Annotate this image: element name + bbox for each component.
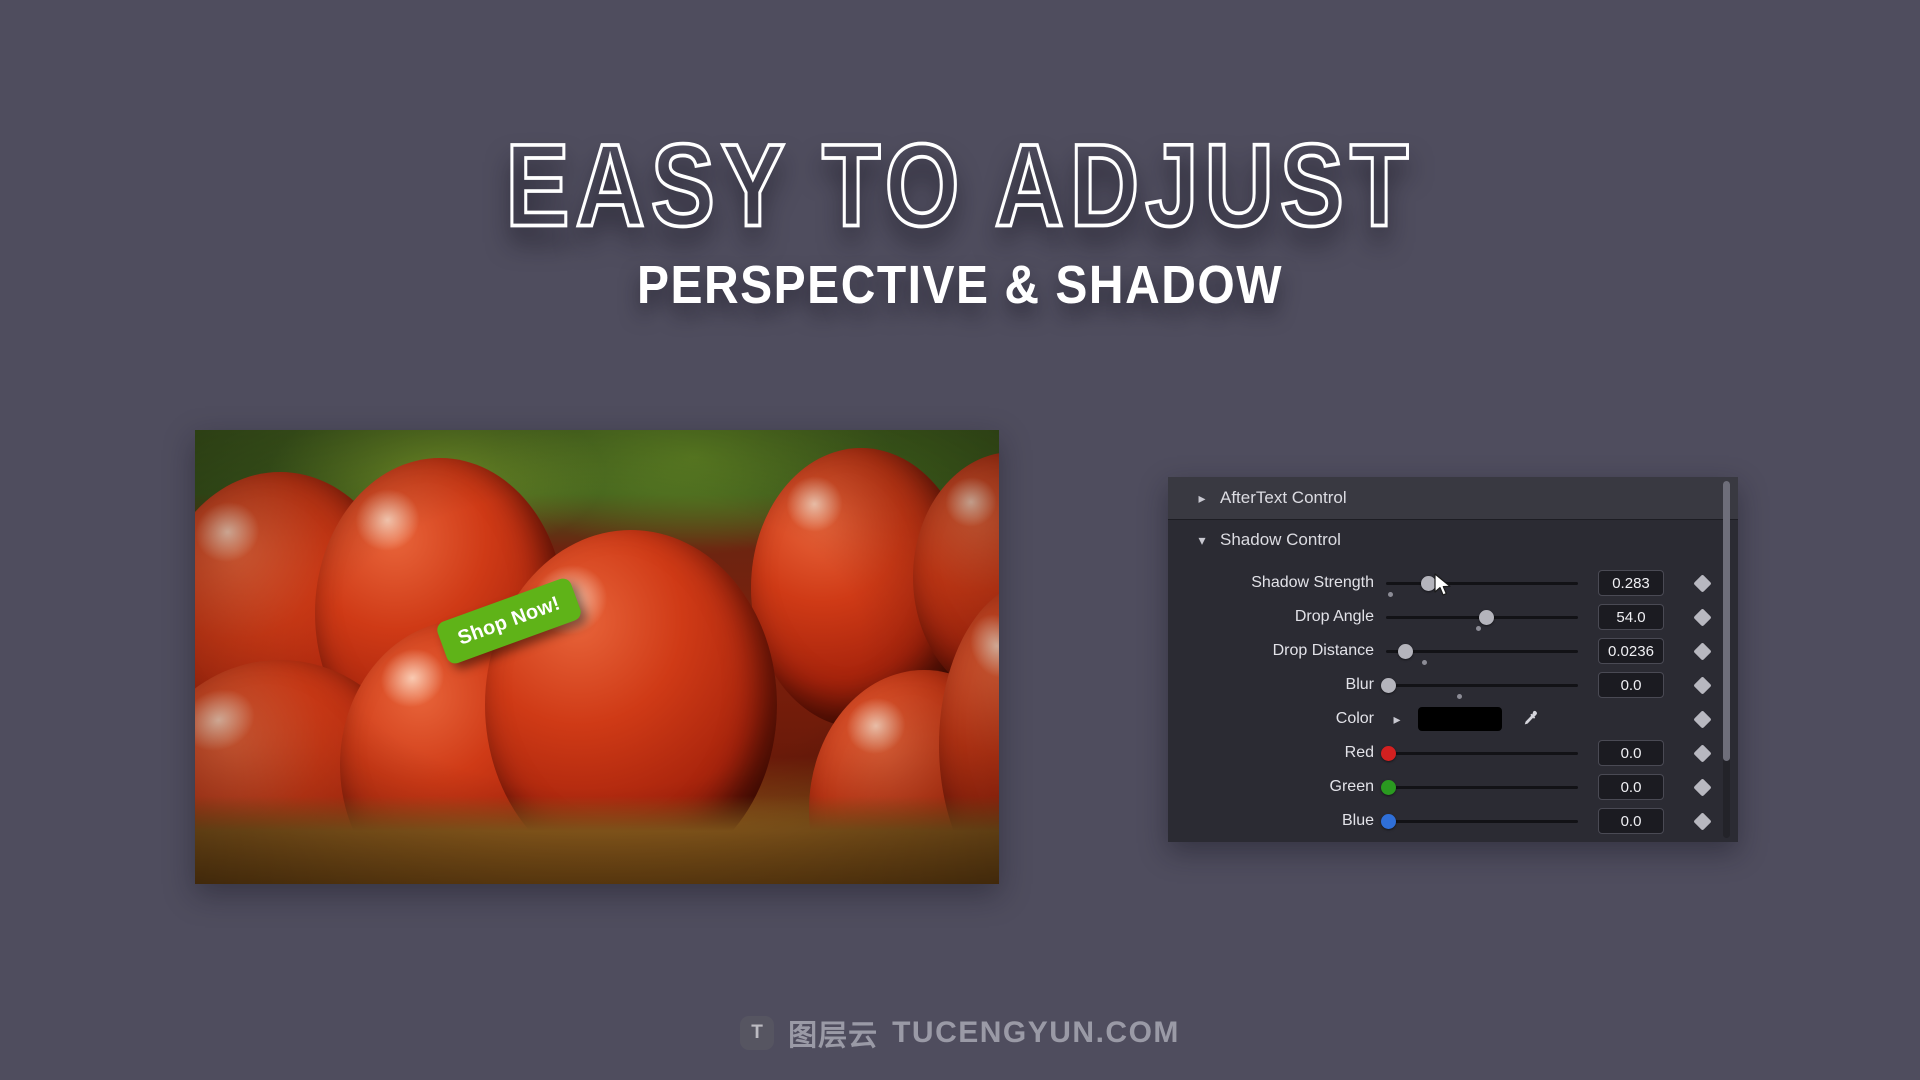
section-title-shadow-control: Shadow Control xyxy=(1220,530,1341,550)
slider-handle[interactable] xyxy=(1381,746,1396,761)
preview-vignette xyxy=(195,430,999,884)
page-title: EASY TO ADJUST xyxy=(0,128,1920,245)
label-drop-angle: Drop Angle xyxy=(1168,608,1386,626)
slider-track xyxy=(1386,582,1578,585)
keyframe-diamond-icon[interactable] xyxy=(1693,608,1711,626)
panel-scrollbar-thumb[interactable] xyxy=(1723,481,1730,761)
watermark: T 图层云 TUCENGYUN.COM xyxy=(0,1012,1920,1054)
slider-default-marker xyxy=(1457,694,1462,699)
slider-default-marker xyxy=(1476,626,1481,631)
value-field-green[interactable]: 0.0 xyxy=(1598,774,1664,800)
label-blue: Blue xyxy=(1168,812,1386,830)
slider-track xyxy=(1386,650,1578,653)
value-field-red[interactable]: 0.0 xyxy=(1598,740,1664,766)
keyframe-diamond-icon[interactable] xyxy=(1693,710,1711,728)
slider-track xyxy=(1386,752,1578,755)
color-swatch[interactable] xyxy=(1418,707,1502,731)
chevron-down-icon[interactable]: ▾ xyxy=(1194,532,1210,549)
keyframe-diamond-icon[interactable] xyxy=(1693,744,1711,762)
value-field-drop-distance[interactable]: 0.0236 xyxy=(1598,638,1664,664)
slider-handle[interactable] xyxy=(1381,780,1396,795)
label-color: Color xyxy=(1168,710,1386,728)
row-green: Green 0.0 xyxy=(1168,770,1738,804)
page-subtitle: PERSPECTIVE & SHADOW xyxy=(0,255,1920,317)
slider-drop-distance[interactable] xyxy=(1386,634,1578,668)
slider-handle[interactable] xyxy=(1421,576,1436,591)
keyframe-diamond-icon[interactable] xyxy=(1693,812,1711,830)
slider-shadow-strength[interactable] xyxy=(1386,566,1578,600)
value-field-blue[interactable]: 0.0 xyxy=(1598,808,1664,834)
label-shadow-strength: Shadow Strength xyxy=(1168,574,1386,592)
row-drop-angle: Drop Angle 54.0 xyxy=(1168,600,1738,634)
value-field-drop-angle[interactable]: 54.0 xyxy=(1598,604,1664,630)
chevron-right-icon[interactable]: ▸ xyxy=(1194,490,1210,507)
slider-red[interactable] xyxy=(1386,736,1578,770)
watermark-chinese-text: 图层云 xyxy=(788,1012,878,1054)
slider-blue[interactable] xyxy=(1386,804,1578,838)
row-shadow-strength: Shadow Strength 0.283 xyxy=(1168,566,1738,600)
slider-handle[interactable] xyxy=(1479,610,1494,625)
slider-default-marker xyxy=(1422,660,1427,665)
slider-blur[interactable] xyxy=(1386,668,1578,702)
slider-drop-angle[interactable] xyxy=(1386,600,1578,634)
label-red: Red xyxy=(1168,744,1386,762)
row-red: Red 0.0 xyxy=(1168,736,1738,770)
keyframe-diamond-icon[interactable] xyxy=(1693,676,1711,694)
label-blur: Blur xyxy=(1168,676,1386,694)
watermark-logo-letter: T xyxy=(751,1022,763,1044)
slider-track xyxy=(1386,786,1578,789)
label-drop-distance: Drop Distance xyxy=(1168,642,1386,660)
slider-track xyxy=(1386,684,1578,687)
section-header-shadow-control[interactable]: ▾ Shadow Control xyxy=(1168,520,1738,560)
hero-heading-group: EASY TO ADJUST xyxy=(0,128,1920,224)
shadow-control-rows: Shadow Strength 0.283 Drop Angle 54.0 Dr… xyxy=(1168,560,1738,838)
row-blue: Blue 0.0 xyxy=(1168,804,1738,838)
slider-handle[interactable] xyxy=(1398,644,1413,659)
slider-handle[interactable] xyxy=(1381,678,1396,693)
row-color: Color ▸ xyxy=(1168,702,1738,736)
section-title-aftertext-control: AfterText Control xyxy=(1220,488,1347,508)
value-field-shadow-strength[interactable]: 0.283 xyxy=(1598,570,1664,596)
panel-scrollbar[interactable] xyxy=(1723,481,1730,838)
keyframe-diamond-icon[interactable] xyxy=(1693,574,1711,592)
section-header-aftertext-control[interactable]: ▸ AfterText Control xyxy=(1168,477,1738,520)
row-blur: Blur 0.0 xyxy=(1168,668,1738,702)
value-field-blur[interactable]: 0.0 xyxy=(1598,672,1664,698)
label-green: Green xyxy=(1168,778,1386,796)
keyframe-diamond-icon[interactable] xyxy=(1693,642,1711,660)
chevron-right-icon[interactable]: ▸ xyxy=(1390,711,1404,728)
slider-green[interactable] xyxy=(1386,770,1578,804)
slider-track xyxy=(1386,820,1578,823)
watermark-domain-text: TUCENGYUN.COM xyxy=(892,1016,1180,1050)
slider-default-marker xyxy=(1388,592,1393,597)
eyedropper-icon[interactable] xyxy=(1518,708,1540,730)
watermark-logo-icon: T xyxy=(740,1016,774,1050)
effect-control-panel: ▸ AfterText Control ▾ Shadow Control Sha… xyxy=(1168,477,1738,842)
slider-handle[interactable] xyxy=(1381,814,1396,829)
row-drop-distance: Drop Distance 0.0236 xyxy=(1168,634,1738,668)
keyframe-diamond-icon[interactable] xyxy=(1693,778,1711,796)
preview-image xyxy=(195,430,999,884)
